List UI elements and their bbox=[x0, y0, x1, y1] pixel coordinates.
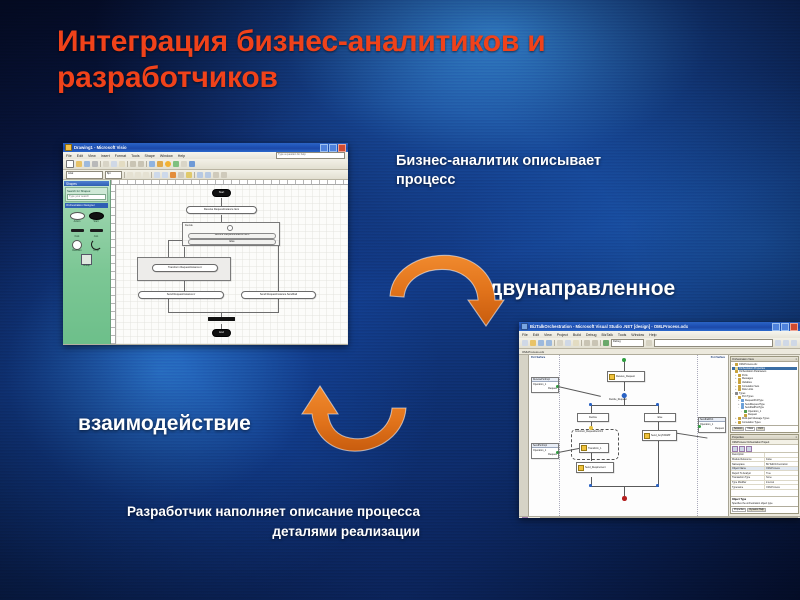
shadow-icon[interactable] bbox=[186, 172, 192, 178]
copy-icon[interactable] bbox=[565, 340, 571, 346]
stencil-search-label: Search for Shapes: bbox=[67, 189, 106, 193]
connector bbox=[222, 312, 279, 313]
find-icon[interactable] bbox=[646, 340, 652, 346]
frame-caption: Decide bbox=[185, 225, 193, 228]
port-message: Request bbox=[699, 426, 725, 430]
orchestration-end-dot[interactable] bbox=[622, 496, 627, 501]
callout-developer-text: Разработчик наполняет описание процесса … bbox=[120, 502, 420, 542]
visio-window-buttons[interactable] bbox=[320, 144, 346, 152]
flow-line bbox=[624, 381, 625, 391]
menu-file[interactable]: File bbox=[522, 333, 528, 337]
paste-icon[interactable] bbox=[119, 161, 125, 167]
decision-marker-icon bbox=[227, 225, 233, 231]
arrow-path bbox=[390, 255, 504, 326]
port-box-send[interactable]: SendPortImpl Operation_1 Request bbox=[531, 443, 559, 459]
open-icon[interactable] bbox=[530, 340, 536, 346]
shape-label: Action bbox=[69, 220, 85, 223]
connector bbox=[168, 298, 169, 312]
flow-line bbox=[591, 486, 659, 487]
port-connector-dot bbox=[698, 425, 701, 428]
vstudio-title-text: BizTalkOrchestration - Microsoft Visual … bbox=[530, 324, 770, 329]
vstudio-toolbox-strip[interactable] bbox=[519, 355, 529, 516]
menu-tools[interactable]: Tools bbox=[131, 154, 139, 158]
save-all-icon[interactable] bbox=[546, 340, 552, 346]
flow-line bbox=[624, 361, 625, 371]
diagram-node-receive[interactable]: Receive RequestInstance Item bbox=[186, 206, 257, 214]
bold-icon[interactable] bbox=[127, 172, 133, 178]
stencil-search-input[interactable]: Type your search bbox=[67, 194, 106, 200]
shape-construct-label: Construct_RequestItemXml bbox=[575, 431, 603, 433]
help-question-box[interactable]: Type a question for help bbox=[276, 152, 345, 159]
merge-dot bbox=[656, 484, 659, 487]
receive-icon bbox=[609, 374, 615, 380]
maximize-icon[interactable] bbox=[329, 144, 337, 152]
redo-icon[interactable] bbox=[592, 340, 598, 346]
connector bbox=[184, 247, 185, 257]
align-shapes-icon[interactable] bbox=[197, 172, 203, 178]
font-name-combo[interactable]: Arial bbox=[66, 171, 103, 179]
menu-debug[interactable]: Debug bbox=[586, 333, 597, 337]
toolbar-separator bbox=[124, 172, 125, 178]
tool-window-tabs[interactable]: Solution Class Orch bbox=[731, 425, 798, 432]
categorized-icon[interactable] bbox=[732, 446, 738, 452]
shape-receive-request[interactable]: Receive_Request bbox=[607, 371, 645, 382]
shape-transform[interactable]: Transform_1 bbox=[579, 443, 609, 453]
circle-shape-icon bbox=[69, 241, 85, 249]
curved-arrow-bottom bbox=[288, 366, 418, 466]
vstudio-output-tab[interactable]: Output bbox=[519, 516, 800, 518]
menu-format[interactable]: Format bbox=[115, 154, 126, 158]
menu-file[interactable]: File bbox=[66, 154, 72, 158]
visio-status-bar: ◀◀ ◀ Page-1 Page 1/1 bbox=[63, 344, 348, 345]
toolbar-separator bbox=[600, 340, 601, 346]
copy-icon[interactable] bbox=[111, 161, 117, 167]
flow-line bbox=[591, 405, 658, 406]
line-color-icon[interactable] bbox=[178, 172, 184, 178]
diagram-rule-decline[interactable]: Decline RequestInstance Item bbox=[188, 233, 276, 239]
shape-send-requirement[interactable]: Send_Requirement bbox=[576, 462, 614, 473]
cut-icon[interactable] bbox=[557, 340, 563, 346]
visio-title-bar[interactable]: Drawing1 - Microsoft Visio bbox=[63, 143, 348, 152]
start-debug-icon[interactable] bbox=[603, 340, 609, 346]
toolbar-separator bbox=[581, 340, 582, 346]
callout-bidirectional-text: двунаправленное bbox=[489, 275, 719, 303]
shape-decide-request-label: Decide_Request bbox=[609, 398, 627, 401]
diagram-node-send-left[interactable]: Send RequestInstance.tr bbox=[138, 291, 224, 299]
vstudio-app-icon bbox=[521, 323, 528, 330]
properties-grid[interactable]: Description Module ReferenceFalse Namesp… bbox=[731, 453, 798, 496]
close-icon[interactable] bbox=[338, 144, 346, 152]
orchestration-view-panel[interactable]: Orchestration View × -OMLProcess.odx Orc… bbox=[730, 356, 799, 433]
menu-window[interactable]: Window bbox=[631, 333, 644, 337]
menu-biztalk[interactable]: BizTalk bbox=[602, 333, 613, 337]
undo-icon[interactable] bbox=[130, 161, 136, 167]
paste-icon[interactable] bbox=[573, 340, 579, 346]
distribute-icon[interactable] bbox=[205, 172, 211, 178]
loop-arc-icon bbox=[88, 241, 104, 249]
output-field[interactable] bbox=[540, 517, 798, 519]
stencil-shape-grid[interactable]: Action Start Fork Join Decision bbox=[64, 209, 109, 270]
send-back-icon[interactable] bbox=[221, 172, 227, 178]
shape-label: Fork bbox=[69, 235, 85, 238]
vstudio-body: Port Surface Port Surface ReceivePortImp… bbox=[519, 355, 800, 516]
bar-shape-icon bbox=[88, 212, 104, 220]
slide-title: Интеграция бизнес-аналитиков и разработч… bbox=[57, 24, 617, 96]
fill-color-icon[interactable] bbox=[170, 172, 176, 178]
open-icon[interactable] bbox=[76, 161, 82, 167]
bring-front-icon[interactable] bbox=[213, 172, 219, 178]
shape-decline-branch[interactable]: Decline bbox=[577, 413, 609, 422]
callout-interaction-text: взаимодействие bbox=[78, 410, 308, 438]
shape-send-anytowmp[interactable]: Send_AnyToWMP bbox=[642, 430, 677, 441]
port-box-receive[interactable]: ReceivePortImpl Operation_1 Request bbox=[531, 377, 559, 393]
diagram-frame-decide[interactable]: Decide Decline RequestInstance Item Else bbox=[182, 222, 280, 246]
undo-icon[interactable] bbox=[584, 340, 590, 346]
vstudio-window-buttons[interactable] bbox=[772, 323, 798, 331]
tab-dynamic-help[interactable]: Dynamic Help bbox=[747, 508, 765, 512]
flow-line bbox=[658, 441, 659, 486]
panel-close-icon[interactable]: × bbox=[795, 358, 797, 361]
merge-dot bbox=[589, 484, 592, 487]
visio-standard-toolbar[interactable] bbox=[63, 159, 348, 170]
property-row: TypenameOMLProcess bbox=[731, 485, 798, 490]
toolbox-icon[interactable] bbox=[791, 340, 797, 346]
diagram-frame-construct[interactable]: Construct Message RequestItem Transform … bbox=[137, 257, 231, 281]
minimize-icon[interactable] bbox=[772, 323, 780, 331]
find-combo[interactable] bbox=[654, 339, 773, 347]
toolbar-separator bbox=[151, 172, 152, 178]
shape-label: Receive_Request bbox=[616, 375, 635, 378]
redo-icon[interactable] bbox=[138, 161, 144, 167]
port-link-line bbox=[558, 386, 601, 397]
tab-class[interactable]: Class bbox=[745, 427, 755, 431]
properties-window-icon[interactable] bbox=[783, 340, 789, 346]
menu-help[interactable]: Help bbox=[649, 333, 656, 337]
solution-explorer-icon[interactable] bbox=[775, 340, 781, 346]
property-pages-icon[interactable] bbox=[746, 446, 752, 452]
menu-help[interactable]: Help bbox=[178, 154, 185, 158]
new-icon[interactable] bbox=[66, 160, 74, 168]
font-size-combo[interactable]: 8pt bbox=[105, 171, 122, 179]
orchestration-start-dot[interactable] bbox=[622, 358, 626, 362]
vstudio-title-bar[interactable]: BizTalkOrchestration - Microsoft Visual … bbox=[519, 322, 800, 331]
connector-tool-icon[interactable] bbox=[157, 161, 163, 167]
transform-icon bbox=[581, 445, 587, 451]
close-icon[interactable] bbox=[790, 323, 798, 331]
zoom-icon[interactable] bbox=[173, 161, 179, 167]
shape-label: Decline bbox=[589, 416, 597, 419]
join-bar-icon bbox=[88, 226, 104, 234]
branch-dot bbox=[589, 403, 592, 406]
tab-orch[interactable]: Orch bbox=[756, 427, 765, 431]
visio-drawing-page[interactable]: Start Receive RequestInstance Item Decid… bbox=[111, 180, 348, 344]
italic-icon[interactable] bbox=[135, 172, 141, 178]
stencil-shape-join[interactable]: Join bbox=[88, 226, 104, 238]
solution-config-combo[interactable]: Debug bbox=[611, 339, 644, 347]
menu-view[interactable]: View bbox=[88, 154, 96, 158]
toolbar-separator bbox=[127, 161, 128, 167]
shape-label: Loop bbox=[88, 249, 104, 252]
toolbar-separator bbox=[146, 161, 147, 167]
pointer-tool-icon[interactable] bbox=[149, 161, 155, 167]
send-icon bbox=[644, 433, 650, 439]
menu-tools[interactable]: Tools bbox=[618, 333, 626, 337]
tree-item-correlation-types[interactable]: +Correlation Types bbox=[732, 421, 797, 425]
properties-tabs[interactable]: Properties Dynamic Help bbox=[731, 506, 798, 513]
shape-else-branch[interactable]: Else bbox=[644, 413, 676, 422]
arrow-path bbox=[302, 386, 406, 451]
menu-insert[interactable]: Insert bbox=[101, 154, 110, 158]
visio-grid[interactable]: Start Receive RequestInstance Item Decid… bbox=[116, 185, 348, 344]
shape-label: Transform_1 bbox=[588, 447, 601, 450]
stencil-shape-loop[interactable]: Loop bbox=[88, 241, 104, 253]
shape-label: Else bbox=[658, 416, 663, 419]
save-icon[interactable] bbox=[538, 340, 544, 346]
diagram-node-start[interactable]: Start bbox=[212, 189, 231, 197]
send-icon bbox=[578, 465, 584, 471]
connector bbox=[278, 240, 279, 292]
orchestration-tree[interactable]: -OMLProcess.odx Orchestration Properties… bbox=[731, 362, 798, 425]
right-port-lane bbox=[697, 355, 728, 516]
fork-bar-icon bbox=[69, 226, 85, 234]
align-left-icon[interactable] bbox=[154, 172, 160, 178]
stencil-shape-fork[interactable]: Fork bbox=[69, 226, 85, 238]
visio-canvas-area: Shapes Search for Shapes: Type your sear… bbox=[63, 180, 348, 344]
stencil-shape-action[interactable]: Action bbox=[69, 212, 85, 224]
visual-studio-window[interactable]: BizTalkOrchestration - Microsoft Visual … bbox=[519, 322, 800, 518]
properties-description: Object Type Specifies the orchestration … bbox=[731, 496, 798, 506]
shape-label: Decision bbox=[69, 249, 85, 252]
underline-icon[interactable] bbox=[143, 172, 149, 178]
toolbar-separator bbox=[554, 340, 555, 346]
flow-line bbox=[624, 486, 625, 496]
shape-label: Send_AnyToWMP bbox=[651, 434, 670, 437]
oval-shape-icon bbox=[69, 212, 85, 220]
menu-view[interactable]: View bbox=[544, 333, 552, 337]
group-box-icon bbox=[79, 255, 95, 263]
menu-build[interactable]: Build bbox=[573, 333, 581, 337]
port-message: Request bbox=[532, 386, 558, 390]
stencil-shape-start[interactable]: Start bbox=[88, 212, 104, 224]
toolbar-separator bbox=[194, 172, 195, 178]
alphabetical-icon[interactable] bbox=[739, 446, 745, 452]
stencil-header: Shapes bbox=[64, 181, 109, 186]
shape-label: Start bbox=[88, 220, 104, 223]
visio-menu-bar[interactable]: File Edit View Insert Format Tools Shape… bbox=[63, 152, 348, 159]
align-center-icon[interactable] bbox=[162, 172, 168, 178]
visio-app-icon bbox=[65, 144, 72, 151]
toolbar-separator bbox=[100, 161, 101, 167]
pan-icon[interactable] bbox=[181, 161, 187, 167]
vstudio-tool-windows: Orchestration View × -OMLProcess.odx Orc… bbox=[728, 355, 800, 516]
output-icon bbox=[522, 517, 528, 519]
visio-formatting-toolbar[interactable]: Arial 8pt bbox=[63, 170, 348, 180]
cut-icon[interactable] bbox=[103, 161, 109, 167]
callout-analyst-text: Бизнес-аналитик описывает процесс bbox=[396, 152, 646, 190]
panel-close-icon[interactable]: × bbox=[795, 436, 797, 439]
properties-panel[interactable]: Properties × OMLProcess Orchestration Pr… bbox=[730, 434, 799, 514]
menu-window[interactable]: Window bbox=[160, 154, 173, 158]
shape-label: Join bbox=[88, 235, 104, 238]
branch-dot bbox=[656, 403, 659, 406]
visio-window[interactable]: Drawing1 - Microsoft Visio File Edit Vie… bbox=[63, 143, 348, 345]
menu-edit[interactable]: Edit bbox=[533, 333, 539, 337]
diagram-node-end[interactable]: End bbox=[212, 329, 231, 337]
connector bbox=[168, 312, 222, 313]
new-project-icon[interactable] bbox=[522, 340, 528, 346]
diagram-node-send-right[interactable]: Send RequestInstance.SendFail bbox=[241, 291, 316, 299]
menu-project[interactable]: Project bbox=[557, 333, 568, 337]
stencil-group-header[interactable]: Orchestration Designer bbox=[65, 203, 108, 208]
port-message: Request bbox=[532, 452, 558, 456]
diagram-node-join[interactable] bbox=[208, 317, 235, 321]
menu-edit[interactable]: Edit bbox=[77, 154, 83, 158]
print-icon[interactable] bbox=[92, 161, 98, 167]
menu-shape[interactable]: Shape bbox=[145, 154, 155, 158]
shape-label: Send_Requirement bbox=[585, 466, 606, 469]
visio-shapes-stencil[interactable]: Shapes Search for Shapes: Type your sear… bbox=[63, 180, 111, 344]
curved-arrow-top bbox=[382, 252, 512, 352]
text-tool-icon[interactable] bbox=[165, 161, 171, 167]
diagram-rule-else[interactable]: Else bbox=[188, 239, 276, 245]
help-icon[interactable] bbox=[189, 161, 195, 167]
stencil-search[interactable]: Search for Shapes: Type your search bbox=[65, 187, 108, 202]
vstudio-menu-bar[interactable]: File Edit View Project Build Debug BizTa… bbox=[519, 331, 800, 338]
panel-title: Properties bbox=[732, 436, 744, 439]
stencil-shape-decision[interactable]: Decision bbox=[69, 241, 85, 253]
diagram-node-transform[interactable]: Transform RequestInstance.tr bbox=[152, 264, 218, 272]
properties-toolbar[interactable] bbox=[731, 445, 798, 453]
vstudio-toolbar[interactable]: Debug bbox=[519, 338, 800, 349]
orchestration-design-surface[interactable]: Port Surface Port Surface ReceivePortImp… bbox=[529, 355, 728, 516]
stencil-shape-group[interactable]: Group bbox=[79, 255, 95, 267]
minimize-icon[interactable] bbox=[320, 144, 328, 152]
construct-icon bbox=[589, 426, 593, 430]
port-box-sendfail[interactable]: SendFailPort Operation_1 Request bbox=[698, 417, 726, 433]
tab-properties[interactable]: Properties bbox=[732, 508, 746, 512]
panel-title: Orchestration View bbox=[732, 358, 754, 361]
visio-title-text: Drawing1 - Microsoft Visio bbox=[74, 145, 318, 150]
maximize-icon[interactable] bbox=[781, 323, 789, 331]
tab-solution[interactable]: Solution bbox=[732, 427, 744, 431]
connector bbox=[278, 298, 279, 312]
save-icon[interactable] bbox=[84, 161, 90, 167]
